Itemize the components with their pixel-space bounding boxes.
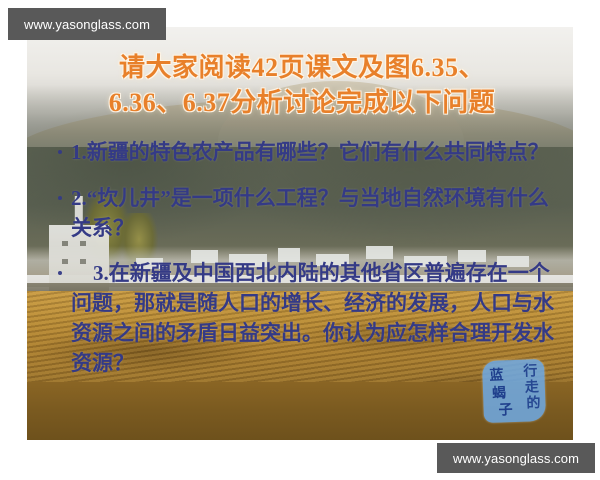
bullet-text-3: 3.在新疆及中国西北内陆的其他省区普遍存在一个问题，那就是随人口的增长、经济的发… xyxy=(71,259,558,378)
list-item: 3.在新疆及中国西北内陆的其他省区普遍存在一个问题，那就是随人口的增长、经济的发… xyxy=(58,259,558,378)
watermark-top: www.yasonglass.com xyxy=(8,8,166,40)
stamp-char-3: 子 xyxy=(498,404,512,418)
bullet-text-2: 2.“坎儿井”是一项什么工程？与当地自然环境有什么关系？ xyxy=(71,184,558,244)
author-stamp: 蓝 蝎 子 行 走 的 xyxy=(482,359,546,423)
title-line-1: 请大家阅读42页课文及图6.35、 xyxy=(42,50,562,85)
stamp-char-5: 走 xyxy=(525,381,539,395)
slide-canvas: 请大家阅读42页课文及图6.35、 6.36、6.37分析讨论完成以下问题 1.… xyxy=(0,0,600,480)
bullet-dot-icon xyxy=(58,150,62,154)
stamp-char-1: 蓝 xyxy=(489,369,503,383)
stamp-char-2: 蝎 xyxy=(492,387,506,401)
list-item: 1.新疆的特色农产品有哪些？它们有什么共同特点？ xyxy=(58,138,558,168)
stamp-char-6: 的 xyxy=(526,397,540,411)
bullet-list: 1.新疆的特色农产品有哪些？它们有什么共同特点？ 2.“坎儿井”是一项什么工程？… xyxy=(58,138,558,395)
list-item: 2.“坎儿井”是一项什么工程？与当地自然环境有什么关系？ xyxy=(58,184,558,244)
bullet-text-1: 1.新疆的特色农产品有哪些？它们有什么共同特点？ xyxy=(71,138,558,168)
watermark-bottom: www.yasonglass.com xyxy=(437,443,595,473)
title-line-2: 6.36、6.37分析讨论完成以下问题 xyxy=(42,85,562,120)
bullet-dot-icon xyxy=(58,271,62,275)
stamp-char-4: 行 xyxy=(523,365,537,379)
slide-title: 请大家阅读42页课文及图6.35、 6.36、6.37分析讨论完成以下问题 xyxy=(42,50,562,120)
bullet-dot-icon xyxy=(58,196,62,200)
